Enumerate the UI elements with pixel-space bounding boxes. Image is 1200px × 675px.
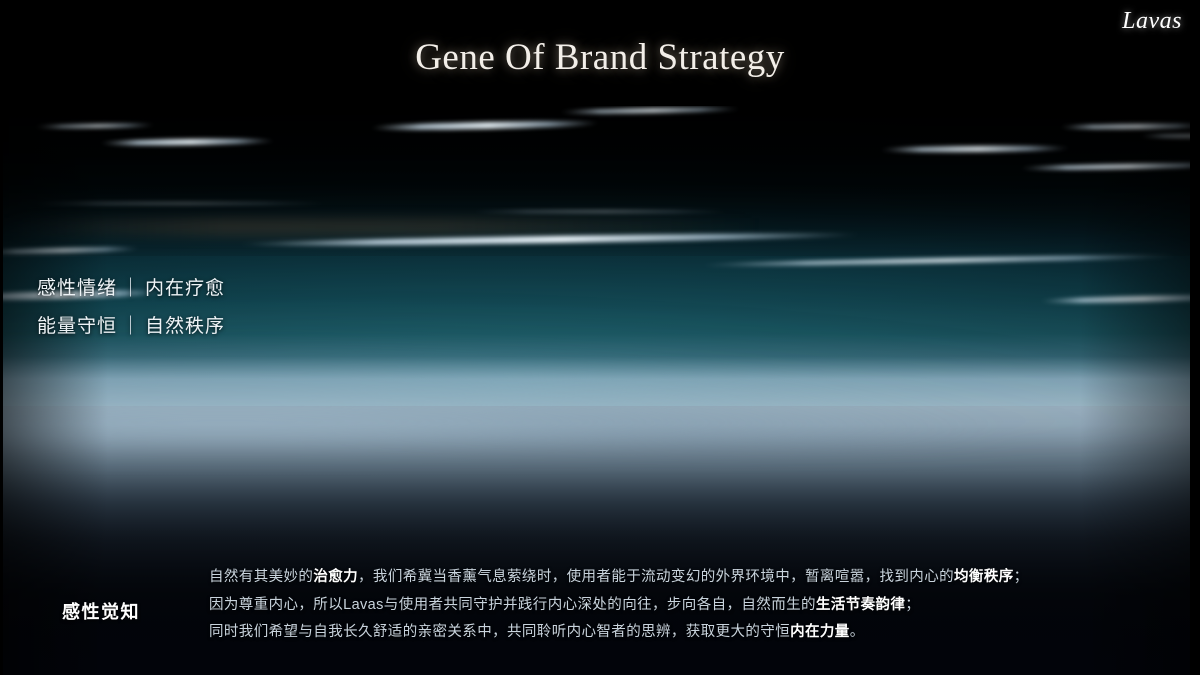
left-edge-border <box>0 0 3 675</box>
body-text: ，我们希冀当香薰气息萦绕时，使用者能于流动变幻的外界环境中，暂离喧嚣，找到内心的 <box>358 569 954 585</box>
light-streak-icon <box>30 202 330 205</box>
body-text: ； <box>905 597 920 613</box>
bottom-copy-block: 感性觉知 自然有其美妙的治愈力，我们希冀当香薰气息萦绕时，使用者能于流动变幻的外… <box>0 556 1200 675</box>
body-paragraph: 自然有其美妙的治愈力，我们希冀当香薰气息萦绕时，使用者能于流动变幻的外界环境中，… <box>209 564 1189 647</box>
page-title: Gene Of Brand Strategy <box>0 36 1200 79</box>
body-text: 同时我们希望与自我长久舒适的亲密关系中，共同聆听内心智者的思辨，获取更大的守恒 <box>209 624 790 640</box>
section-label: 感性觉知 <box>62 598 140 624</box>
slide-header: Gene Of Brand Strategy Lavas <box>0 0 1200 106</box>
emphasis-text: 均衡秩序 <box>954 569 1014 585</box>
light-streak-icon <box>470 210 730 213</box>
presentation-slide: Gene Of Brand Strategy Lavas 感性情绪｜内在疗愈 能… <box>0 0 1200 675</box>
body-text: 自然有其美妙的 <box>209 569 313 585</box>
emphasis-text: 内在力量 <box>790 624 850 640</box>
tagline-block: 感性情绪｜内在疗愈 能量守恒｜自然秩序 <box>37 270 225 346</box>
tagline-separator: ｜ <box>121 270 141 308</box>
tagline-row: 感性情绪｜内在疗愈 <box>37 270 225 308</box>
paragraph-line: 自然有其美妙的治愈力，我们希冀当香薰气息萦绕时，使用者能于流动变幻的外界环境中，… <box>209 564 1189 592</box>
right-edge-border <box>1190 0 1200 675</box>
tagline-left: 感性情绪 <box>37 278 117 299</box>
warm-reflection-band <box>0 218 760 236</box>
body-text: ； <box>1014 569 1029 585</box>
brand-logo: Lavas <box>1122 8 1182 35</box>
tagline-left: 能量守恒 <box>37 316 117 337</box>
emphasis-text: 治愈力 <box>313 569 358 585</box>
tagline-right: 自然秩序 <box>145 316 225 337</box>
paragraph-line: 同时我们希望与自我长久舒适的亲密关系中，共同聆听内心智者的思辨，获取更大的守恒内… <box>209 619 1189 647</box>
tagline-separator: ｜ <box>121 308 141 346</box>
tagline-row: 能量守恒｜自然秩序 <box>37 308 225 346</box>
emphasis-text: 生活节奏韵律 <box>816 597 905 613</box>
paragraph-line: 因为尊重内心，所以Lavas与使用者共同守护并践行内心深处的向往，步向各自，自然… <box>209 592 1189 620</box>
body-text: 。 <box>850 624 865 640</box>
body-text: 因为尊重内心，所以Lavas与使用者共同守护并践行内心深处的向往，步向各自，自然… <box>209 597 816 613</box>
tagline-right: 内在疗愈 <box>145 278 225 299</box>
